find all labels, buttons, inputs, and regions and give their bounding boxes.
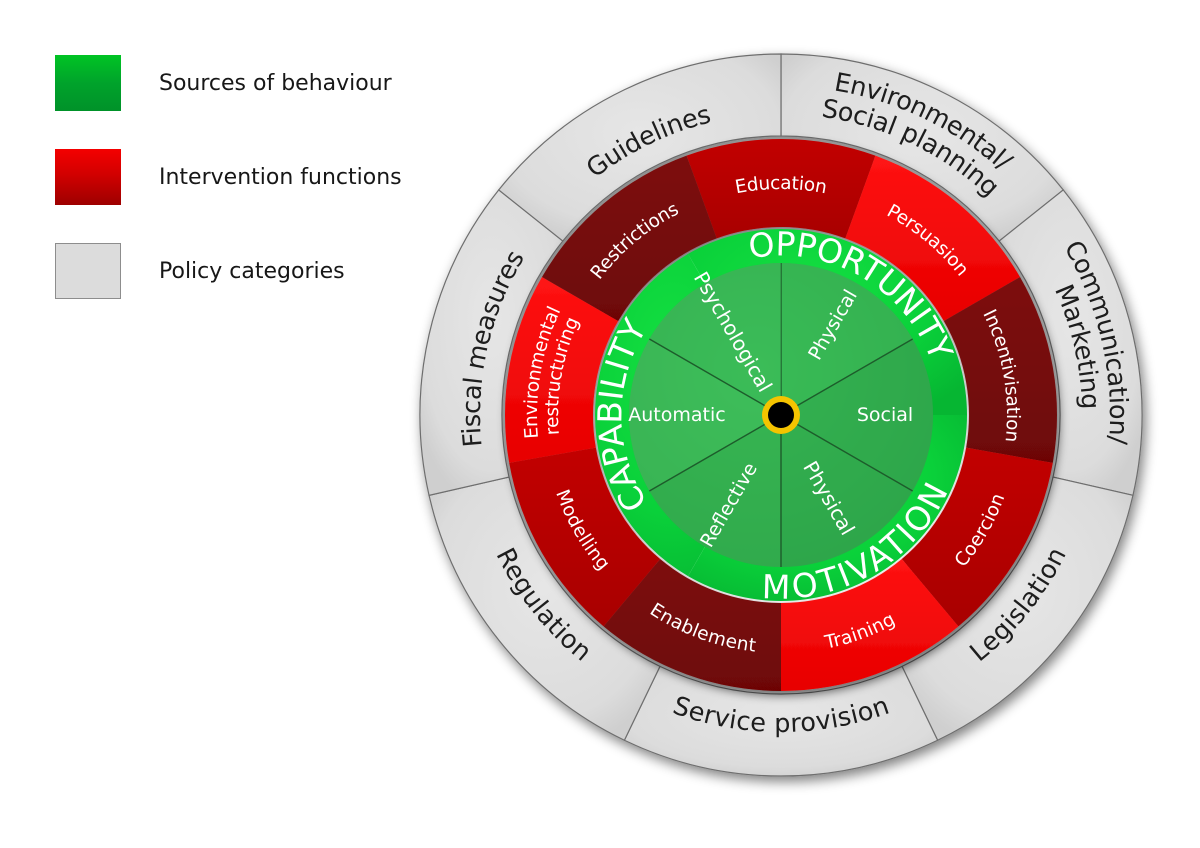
core-label-1: Social bbox=[857, 404, 913, 426]
behaviour-change-wheel: Environmental/Social planningCommunicati… bbox=[0, 0, 1200, 848]
core-label-4: Automatic bbox=[628, 404, 725, 426]
hub-center bbox=[768, 402, 794, 428]
wheel-hub bbox=[762, 396, 800, 434]
